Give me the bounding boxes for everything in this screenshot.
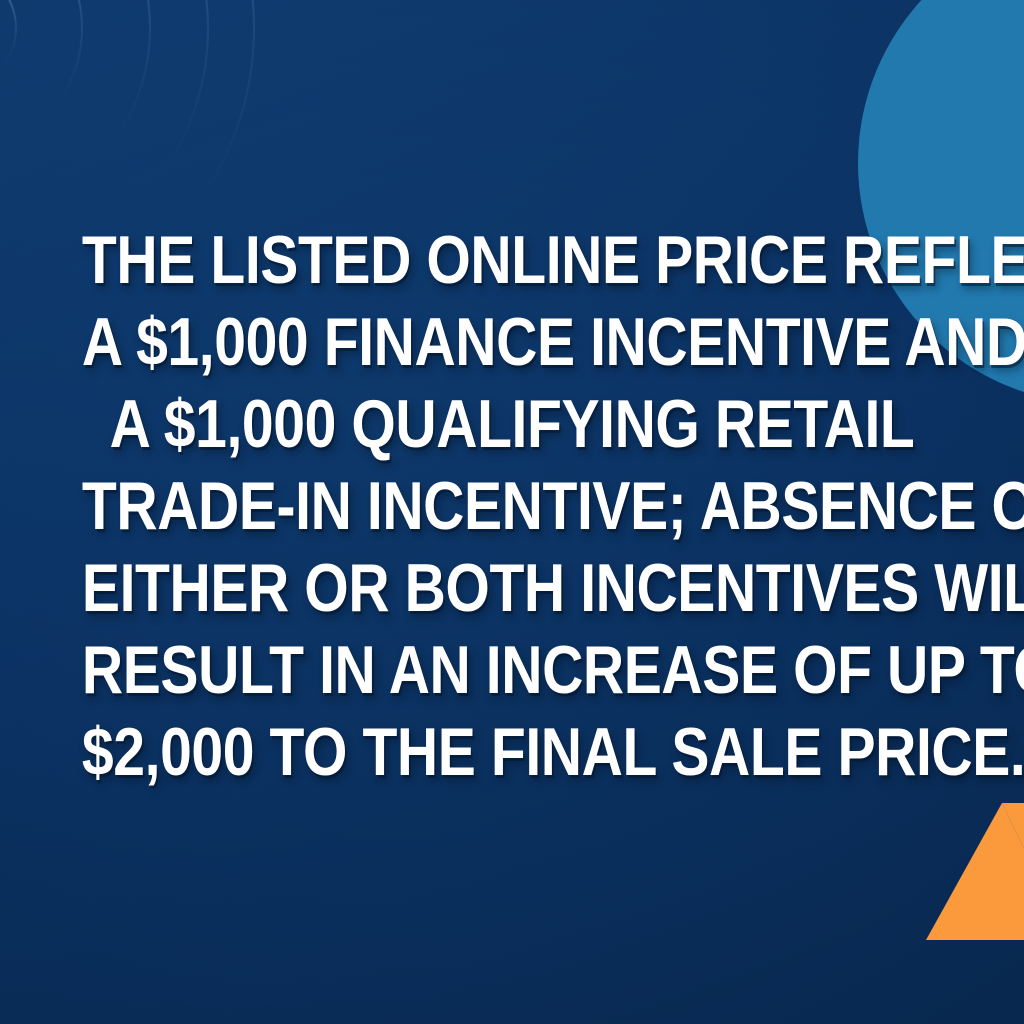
disclaimer-line-7: $2,000 TO THE FINAL SALE PRICE. <box>82 711 942 793</box>
promo-graphic-canvas: THE LISTED ONLINE PRICE REFLECTS A $1,00… <box>0 0 1024 1024</box>
orange-triangle <box>918 798 1024 940</box>
disclaimer-line-6: RESULT IN AN INCREASE OF UP TO <box>82 629 942 711</box>
disclaimer-line-3: A $1,000 QUALIFYING RETAIL <box>82 383 942 465</box>
disclaimer-line-2: A $1,000 FINANCE INCENTIVE AND <box>82 301 942 383</box>
disclaimer-text-block: THE LISTED ONLINE PRICE REFLECTS A $1,00… <box>82 219 942 793</box>
disclaimer-line-4: TRADE-IN INCENTIVE; ABSENCE OF <box>82 465 942 547</box>
disclaimer-line-5: EITHER OR BOTH INCENTIVES WILL <box>82 547 942 629</box>
disclaimer-line-1: THE LISTED ONLINE PRICE REFLECTS <box>82 219 942 301</box>
